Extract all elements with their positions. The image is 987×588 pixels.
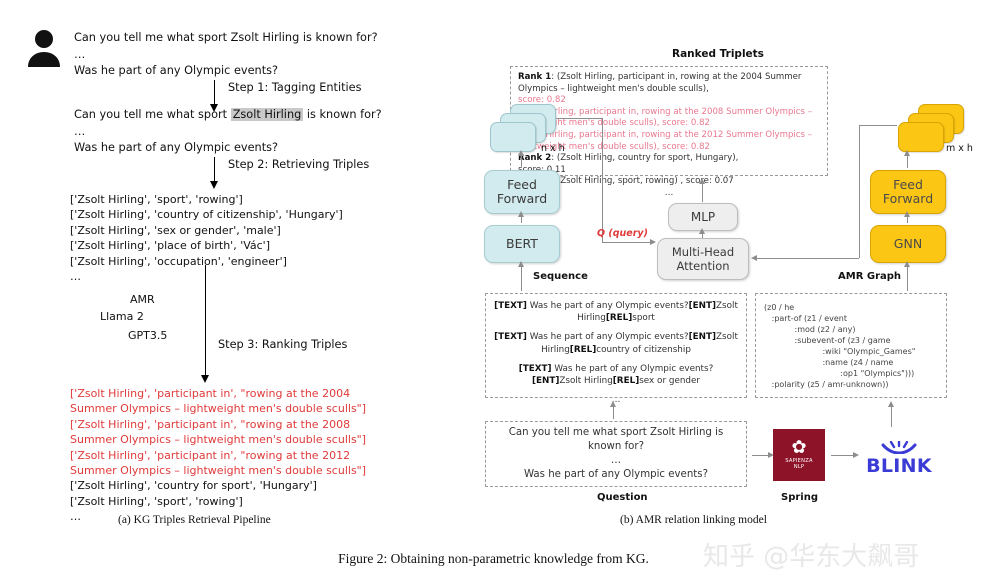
sequence-label: Sequence: [533, 271, 588, 282]
seq2-a: Was he part of any Olympic events?: [527, 332, 689, 342]
sequence-ellipsis: …: [494, 394, 738, 406]
rel-tag-2: [REL]: [570, 345, 596, 355]
sequence-text: [TEXT] Was he part of any Olympic events…: [494, 300, 738, 406]
watermark: 知乎 @华东大飙哥: [703, 536, 919, 573]
right-stack-dimension: m x h: [946, 143, 973, 154]
question-caption: Question: [597, 492, 648, 503]
kv-line-vertical: [859, 125, 860, 258]
sequence-item-3: [TEXT] Was he part of any Olympic events…: [494, 363, 738, 387]
retrieved-triples-list: ['Zsolt Hirling', 'sport', 'rowing'] ['Z…: [70, 192, 343, 284]
left-stack-dimension: n x h: [541, 143, 565, 154]
rel-tag-1: [REL]: [606, 313, 632, 323]
blink-label: BLINK: [860, 455, 938, 477]
sequence-item-2: [TEXT] Was he part of any Olympic events…: [494, 331, 738, 355]
ranked-triplets-text: Rank 1: (Zsolt Hirling, participant in, …: [518, 72, 820, 200]
kv-line-bottom: [757, 258, 859, 259]
text-tag-2: [TEXT]: [494, 332, 527, 342]
seq2-c: country of citizenship: [596, 345, 691, 355]
query-arrow-head: [650, 239, 656, 245]
embedding-card-yellow-1: [898, 122, 944, 152]
tagged-entity-highlight: Zsolt Hirling: [231, 108, 304, 121]
arrow-ff-to-gnn-head: [904, 211, 910, 217]
question-box-text: Can you tell me what sport Zsolt Hirling…: [509, 426, 724, 482]
ent-tag-3: [ENT]: [532, 376, 559, 386]
arrow-mlp-to-ranked-head: [699, 178, 705, 184]
ranked-triplets-title: Ranked Triplets: [672, 48, 764, 60]
ent-tag-1: [ENT]: [689, 301, 716, 311]
text-tag-3: [TEXT]: [519, 364, 552, 374]
ranked-triplets-box: Rank 1: (Zsolt Hirling, participant in, …: [510, 66, 828, 176]
seq1-c: sport: [632, 313, 655, 323]
spring-logo-name: SAPIENZA NLP: [785, 458, 812, 471]
model-label-gpt35: GPT3.5: [128, 329, 167, 342]
sequence-box: [TEXT] Was he part of any Olympic events…: [485, 293, 747, 398]
bert-node: BERT: [484, 225, 560, 263]
spring-caption: Spring: [781, 492, 818, 503]
kv-arrow-head: [751, 255, 757, 261]
spring-logo: ✿ SAPIENZA NLP: [773, 429, 825, 481]
sequence-item-1: [TEXT] Was he part of any Olympic events…: [494, 300, 738, 324]
step3-label: Step 3: Ranking Triples: [218, 338, 347, 351]
query-line-vertical: [602, 118, 603, 242]
step2-label: Step 2: Retrieving Triples: [228, 158, 369, 171]
feed-forward-right-node: Feed Forward: [870, 170, 946, 214]
sapienza-crest-icon: ✿: [791, 440, 806, 456]
query-line-bottom: [602, 242, 650, 243]
arrow-attention-to-mlp-head: [699, 228, 705, 234]
text-tag-1: [TEXT]: [494, 301, 527, 311]
rank1-label: Rank 1: [518, 72, 551, 82]
gnn-node: GNN: [870, 225, 946, 263]
seq1-a: Was he part of any Olympic events?: [527, 301, 689, 311]
model-label-amr: AMR: [130, 293, 155, 306]
blink-logo: BLINK: [860, 441, 938, 477]
arrow-step1: [214, 80, 215, 106]
rel-tag-3: [REL]: [613, 376, 639, 386]
arrow-stack-to-ff-head: [518, 150, 524, 156]
rank3-text: : (Zsolt Hirling, sport, rowing) , score…: [551, 176, 734, 186]
arrow-amr-to-gnn: [907, 263, 908, 291]
ranked-ellipsis: …: [665, 188, 674, 198]
embedding-card-blue-1: [490, 122, 536, 152]
subcaption-b: (b) AMR relation linking model: [620, 514, 767, 526]
arrow-spring-to-blink-head: [853, 452, 859, 458]
query-label: Q (query): [597, 228, 648, 240]
arrow-sequence-to-bert: [521, 263, 522, 291]
seq3-b: Zsolt Hirling: [559, 376, 612, 386]
arrow-blink-to-amr-head: [888, 401, 894, 407]
arrow-question-to-sequence-head: [610, 401, 616, 407]
person-icon: [22, 26, 66, 70]
arrow-question-to-spring: [752, 455, 768, 456]
kg-triples-retrieval-pipeline: Can you tell me what sport Zsolt Hirling…: [0, 0, 480, 540]
question-initial: Can you tell me what sport Zsolt Hirling…: [74, 30, 404, 80]
subcaption-a: (a) KG Triples Retrieval Pipeline: [118, 514, 271, 526]
question-tagged: Can you tell me what sport Zsolt Hirling…: [74, 107, 414, 157]
arrow-step1-head: [210, 104, 218, 112]
arrow-stack-to-ff-right-head: [904, 150, 910, 156]
kv-line-top: [859, 125, 897, 126]
arrow-amr-to-gnn-head: [904, 261, 910, 267]
model-label-llama2: Llama 2: [100, 310, 144, 323]
question-box: Can you tell me what sport Zsolt Hirling…: [485, 421, 747, 487]
ent-tag-2: [ENT]: [689, 332, 716, 342]
query-line-top: [556, 118, 602, 119]
amr-graph-box: (z0 / he :part-of (z1 / event :mod (z2 /…: [755, 293, 947, 398]
rank1-text: : (Zsolt Hirling, participant in, rowing…: [518, 72, 801, 94]
seq3-c: sex or gender: [639, 376, 700, 386]
step1-label: Step 1: Tagging Entities: [228, 81, 362, 94]
arrow-spring-to-blink: [831, 455, 853, 456]
arrow-step2-head: [210, 181, 218, 189]
mlp-node: MLP: [668, 203, 738, 231]
blink-eye-icon: [881, 441, 917, 454]
amr-graph-text: (z0 / he :part-of (z1 / event :mod (z2 /…: [764, 302, 938, 390]
rank2-text: : (Zsolt Hirling, country for sport, Hun…: [551, 153, 738, 163]
arrow-step2: [214, 157, 215, 183]
arrow-ff-to-bert-head: [518, 211, 524, 217]
seq3-a: Was he part of any Olympic events?: [552, 364, 714, 374]
question-tagged-prefix: Can you tell me what sport: [74, 108, 231, 121]
arrow-step3-head: [201, 375, 209, 383]
arrow-sequence-to-bert-head: [518, 261, 524, 267]
ranked-triples-list: ['Zsolt Hirling', 'participant in', "row…: [70, 386, 366, 525]
feed-forward-left-node: Feed Forward: [484, 170, 560, 214]
amr-graph-label: AMR Graph: [838, 271, 901, 282]
arrow-step3: [205, 265, 206, 377]
ranked-triples-red-text: ['Zsolt Hirling', 'participant in', "row…: [70, 387, 366, 477]
multi-head-attention-node: Multi-Head Attention: [657, 238, 749, 280]
